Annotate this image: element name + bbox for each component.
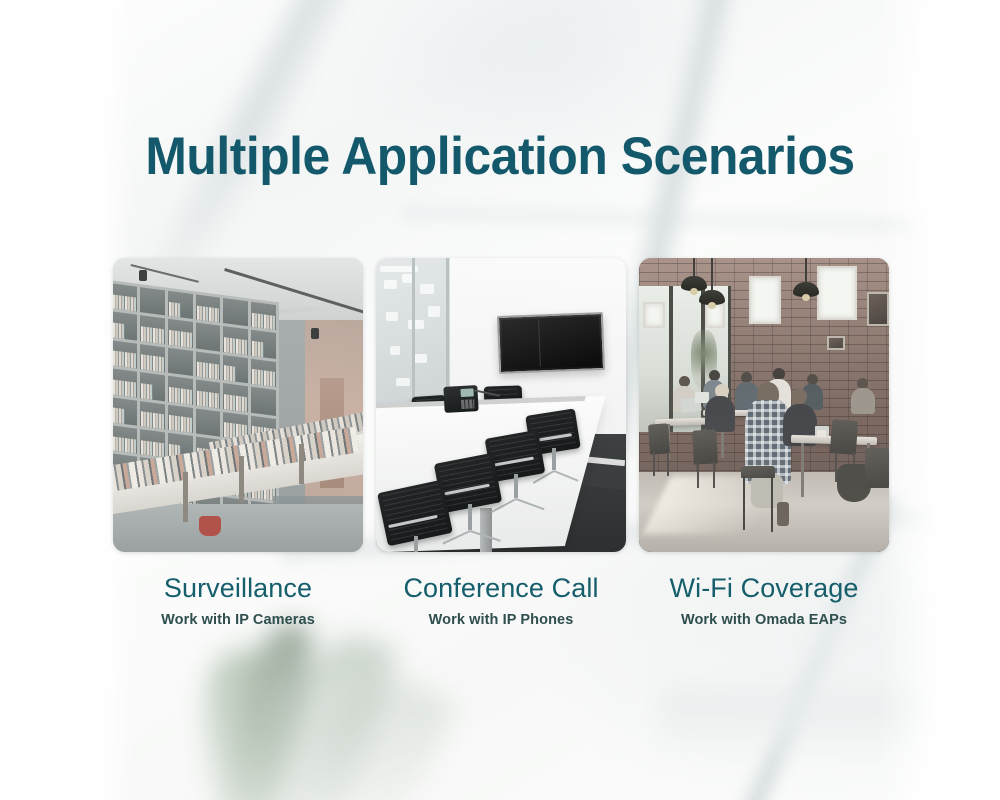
caption-wifi-coverage: Wi-Fi Coverage Work with Omada EAPs <box>639 572 889 628</box>
caption-subtitle: Work with IP Phones <box>376 612 626 628</box>
caption-title: Conference Call <box>376 572 626 606</box>
caption-surveillance: Surveillance Work with IP Cameras <box>113 572 363 628</box>
caption-title: Wi-Fi Coverage <box>639 572 889 606</box>
left-white-rail <box>0 0 100 800</box>
caption-conference-call: Conference Call Work with IP Phones <box>376 572 626 628</box>
scenario-card-row <box>113 258 889 552</box>
caption-row: Surveillance Work with IP Cameras Confer… <box>113 572 889 628</box>
page-title: Multiple Application Scenarios <box>30 126 970 187</box>
caption-subtitle: Work with Omada EAPs <box>639 612 889 628</box>
application-scenarios-banner: Multiple Application Scenarios <box>0 0 1000 800</box>
scenario-photo-surveillance <box>113 258 363 552</box>
caption-subtitle: Work with IP Cameras <box>113 612 363 628</box>
caption-title: Surveillance <box>113 572 363 606</box>
background-beam <box>400 203 920 235</box>
background-plant <box>196 612 446 800</box>
scenario-photo-conference-call <box>376 258 626 552</box>
right-white-rail <box>936 0 1000 800</box>
scenario-photo-wifi-coverage <box>639 258 889 552</box>
